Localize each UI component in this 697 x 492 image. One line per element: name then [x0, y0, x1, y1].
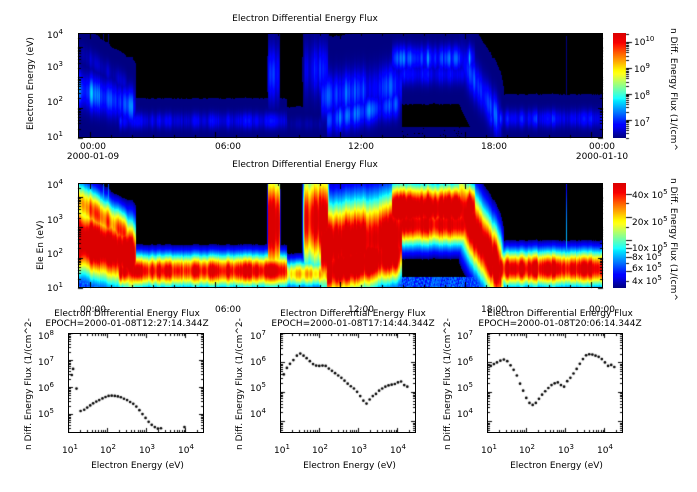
top-colorbar-label: n Diff. Energy Flux (1/(cm^ [668, 28, 678, 151]
top-panel-ylabel: Electron Energy (eV) [26, 37, 36, 130]
subplot-2-xtick-3: 103 [558, 443, 574, 456]
subplot-1-xlabel: Electron Energy (eV) [272, 461, 427, 471]
subplot-0-xtick-1: 101 [62, 443, 78, 456]
subplot-1-ytick-7: 107 [250, 329, 266, 342]
subplot-2-ytick-6: 106 [457, 355, 473, 368]
mid-colorbar[interactable] [613, 183, 626, 288]
top-panel-title: Electron Differential Energy Flux [0, 14, 610, 24]
top-plot-frame [78, 33, 603, 138]
mid-panel-title: Electron Differential Energy Flux [0, 160, 610, 170]
subplot-2-ytick-7: 107 [457, 329, 473, 342]
top-ytick-1: 101 [47, 130, 63, 143]
mid-cbar-tick-20: 20x 105 [632, 215, 668, 228]
subplot-1-ytick-5: 105 [250, 381, 266, 394]
subplot-1-title: Electron Differential Energy Flux [248, 309, 458, 319]
mid-ytick-1: 101 [47, 281, 63, 294]
subplot-0-subtitle: EPOCH=2000-01-08T12:27:14.344Z [22, 319, 232, 329]
subplot-0-title: Electron Differential Energy Flux [22, 309, 232, 319]
top-cbar-tick-9: 109 [634, 62, 650, 75]
subplot-1-xtick-3: 103 [351, 443, 367, 456]
subplot-2-ytick-5: 105 [457, 381, 473, 394]
subplot-2-ytick-4: 104 [457, 407, 473, 420]
subplot-2-xlabel: Electron Energy (eV) [479, 461, 634, 471]
top-cbar-tick-8: 108 [634, 89, 650, 102]
mid-colorbar-label: n Diff. Energy Flux (1/(cm^ [668, 178, 678, 301]
subplot-1-ylabel: n Diff. Energy Flux (1/(cm^2- [235, 318, 245, 450]
subplot-0-canvas[interactable] [68, 333, 204, 433]
top-ytick-2: 102 [47, 95, 63, 108]
subplot-0-xtick-4: 104 [178, 443, 194, 456]
mid-panel-ylabel: Ele En (eV) [36, 220, 46, 270]
subplot-0-ytick-6: 106 [38, 381, 54, 394]
subplot-2-title: Electron Differential Energy Flux [455, 309, 665, 319]
subplot-1-xtick-1: 101 [274, 443, 290, 456]
top-colorbar[interactable] [613, 33, 626, 138]
mid-ytick-2: 102 [47, 247, 63, 260]
mid-ytick-3: 103 [47, 213, 63, 226]
subplot-2-xtick-4: 104 [597, 443, 613, 456]
subplot-2-xtick-1: 101 [481, 443, 497, 456]
top-xtick-3: 18:00 [470, 142, 518, 152]
top-ytick-4: 104 [47, 28, 63, 41]
mid-cbar-tick-4: 4x 105 [632, 274, 662, 287]
top-xtick-2: 12:00 [337, 142, 385, 152]
subplot-1-canvas[interactable] [280, 333, 416, 433]
subplot-0-ylabel: n Diff. Energy Flux (1/(cm^2- [24, 318, 34, 450]
subplot-1-subtitle: EPOCH=2000-01-08T17:14:44.344Z [248, 319, 458, 329]
subplot-0-ytick-5: 105 [38, 407, 54, 420]
subplot-2-canvas[interactable] [487, 333, 623, 433]
subplot-1-xtick-4: 104 [390, 443, 406, 456]
top-xtick-4: 00:00 [578, 142, 626, 152]
subplot-0-xtick-2: 102 [100, 443, 116, 456]
subplot-2-subtitle: EPOCH=2000-01-08T20:06:14.344Z [455, 319, 665, 329]
top-xtick-1: 06:00 [204, 142, 252, 152]
subplot-1-ytick-4: 104 [250, 407, 266, 420]
subplot-0-xlabel: Electron Energy (eV) [60, 461, 215, 471]
subplot-1-xtick-2: 102 [312, 443, 328, 456]
mid-ytick-4: 104 [47, 178, 63, 191]
top-cbar-tick-7: 107 [634, 116, 650, 129]
mid-cbar-tick-40: 40x 105 [632, 188, 668, 201]
top-xtick-0: 00:00 [69, 142, 117, 152]
top-cbar-tick-10: 1010 [634, 35, 654, 48]
mid-cbar-tick-6: 6x 105 [632, 261, 662, 274]
subplot-0-ytick-8: 108 [38, 329, 54, 342]
subplot-1-ytick-6: 106 [250, 355, 266, 368]
subplot-2-ylabel: n Diff. Energy Flux (1/(cm^2- [443, 318, 453, 450]
mid-plot-frame [78, 183, 603, 288]
subplot-2-xtick-2: 102 [519, 443, 535, 456]
subplot-0-xtick-3: 103 [139, 443, 155, 456]
top-ytick-3: 103 [47, 60, 63, 73]
subplot-0-ytick-7: 107 [38, 355, 54, 368]
